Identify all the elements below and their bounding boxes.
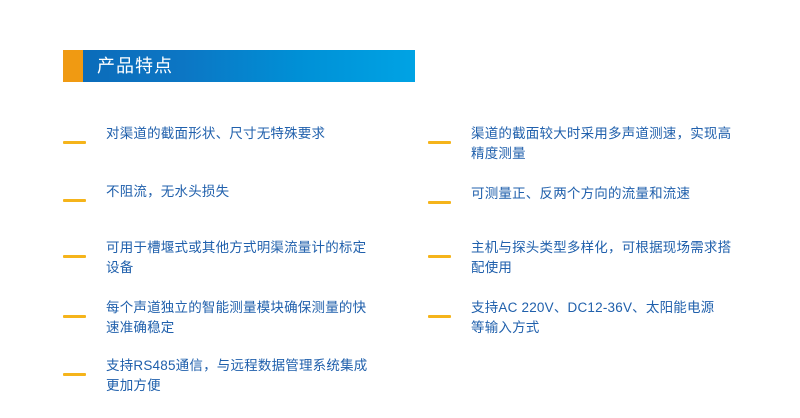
dash-icon: [63, 255, 86, 258]
feature-item: 可测量正、反两个方向的流量和流速: [428, 184, 758, 204]
feature-item: 可用于槽堰式或其他方式明渠流量计的标定 设备: [63, 238, 393, 278]
feature-text-line: 不阻流，无水头损失: [106, 182, 393, 202]
feature-text-line: 更加方便: [106, 376, 393, 396]
feature-text-line: 支持AC 220V、DC12-36V、太阳能电源: [471, 298, 758, 318]
feature-text-line: 等输入方式: [471, 318, 758, 338]
section-header: 产品特点: [63, 50, 415, 82]
feature-item: 每个声道独立的智能测量模块确保测量的快 速准确稳定: [63, 298, 393, 338]
feature-item: 渠道的截面较大时采用多声道测速，实现高 精度测量: [428, 124, 758, 164]
feature-text: 支持RS485通信，与远程数据管理系统集成 更加方便: [106, 356, 393, 396]
page-title: 产品特点: [97, 57, 173, 75]
feature-text: 可用于槽堰式或其他方式明渠流量计的标定 设备: [106, 238, 393, 278]
feature-text-line: 设备: [106, 258, 393, 278]
feature-text-line: 每个声道独立的智能测量模块确保测量的快: [106, 298, 393, 318]
feature-text: 可测量正、反两个方向的流量和流速: [471, 184, 758, 204]
feature-text: 渠道的截面较大时采用多声道测速，实现高 精度测量: [471, 124, 758, 164]
feature-text-line: 可测量正、反两个方向的流量和流速: [471, 184, 758, 204]
feature-text: 不阻流，无水头损失: [106, 182, 393, 202]
feature-text-line: 精度测量: [471, 144, 758, 164]
dash-icon: [428, 255, 451, 258]
feature-text: 对渠道的截面形状、尺寸无特殊要求: [106, 124, 393, 144]
header-accent-block: [63, 50, 83, 82]
feature-item: 主机与探头类型多样化，可根据现场需求搭 配使用: [428, 238, 758, 278]
dash-icon: [63, 141, 86, 144]
dash-icon: [63, 373, 86, 376]
dash-icon: [428, 315, 451, 318]
feature-text-line: 主机与探头类型多样化，可根据现场需求搭: [471, 238, 758, 258]
feature-text-line: 对渠道的截面形状、尺寸无特殊要求: [106, 124, 393, 144]
feature-item: 支持RS485通信，与远程数据管理系统集成 更加方便: [63, 356, 393, 396]
header-gradient-bar: 产品特点: [83, 50, 415, 82]
feature-text-line: 可用于槽堰式或其他方式明渠流量计的标定: [106, 238, 393, 258]
dash-icon: [63, 315, 86, 318]
feature-text: 每个声道独立的智能测量模块确保测量的快 速准确稳定: [106, 298, 393, 338]
dash-icon: [428, 201, 451, 204]
feature-text-line: 配使用: [471, 258, 758, 278]
product-features-slide: { "page": { "background_color": "#ffffff…: [0, 0, 800, 418]
dash-icon: [428, 141, 451, 144]
feature-item: 不阻流，无水头损失: [63, 182, 393, 202]
feature-item: 对渠道的截面形状、尺寸无特殊要求: [63, 124, 393, 144]
feature-text-line: 速准确稳定: [106, 318, 393, 338]
feature-item: 支持AC 220V、DC12-36V、太阳能电源 等输入方式: [428, 298, 758, 338]
feature-text: 主机与探头类型多样化，可根据现场需求搭 配使用: [471, 238, 758, 278]
feature-text-line: 渠道的截面较大时采用多声道测速，实现高: [471, 124, 758, 144]
dash-icon: [63, 199, 86, 202]
feature-text: 支持AC 220V、DC12-36V、太阳能电源 等输入方式: [471, 298, 758, 338]
feature-text-line: 支持RS485通信，与远程数据管理系统集成: [106, 356, 393, 376]
